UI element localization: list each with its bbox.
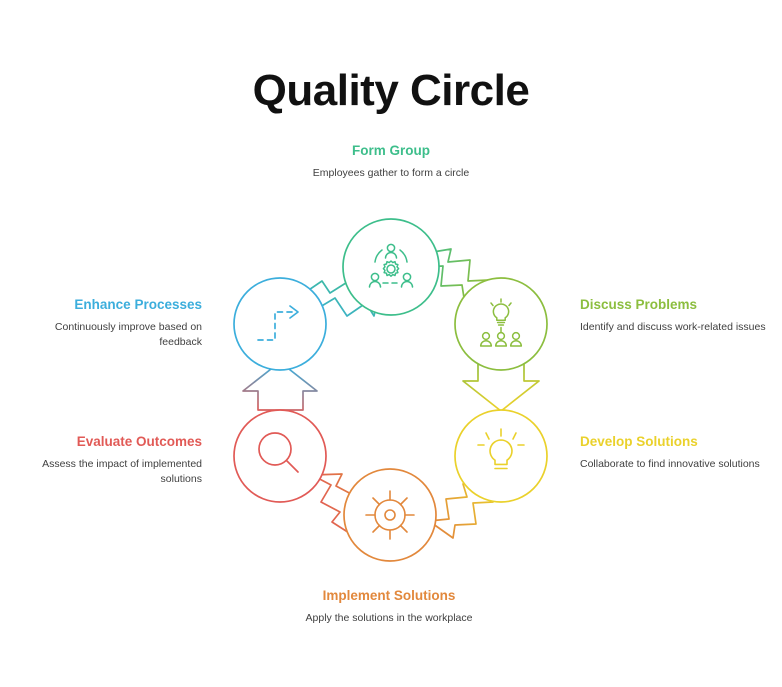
label-desc-evaluate-outcomes: Assess the impact of implemented solutio… (10, 457, 202, 487)
label-desc-discuss-problems: Identify and discuss work-related issues (580, 320, 776, 335)
node-circle-discuss-problems (455, 278, 547, 370)
label-desc-develop-solutions: Collaborate to find innovative solutions (580, 457, 776, 472)
label-develop-solutions: Develop Solutions Collaborate to find in… (580, 433, 776, 472)
infographic-canvas: Quality Circle (0, 0, 782, 687)
label-title-implement-solutions: Implement Solutions (294, 587, 484, 605)
label-title-enhance-processes: Enhance Processes (10, 296, 202, 314)
label-enhance-processes: Enhance Processes Continuously improve b… (10, 296, 202, 350)
label-desc-implement-solutions: Apply the solutions in the workplace (294, 611, 484, 626)
label-discuss-problems: Discuss Problems Identify and discuss wo… (580, 296, 776, 335)
node-circle-enhance-processes (234, 278, 326, 370)
label-title-form-group: Form Group (296, 142, 486, 160)
label-evaluate-outcomes: Evaluate Outcomes Assess the impact of i… (10, 433, 202, 487)
label-title-develop-solutions: Develop Solutions (580, 433, 776, 451)
label-implement-solutions: Implement Solutions Apply the solutions … (294, 587, 484, 625)
node-circle-form-group (343, 219, 439, 315)
label-desc-enhance-processes: Continuously improve based on feedback (10, 320, 202, 350)
label-title-discuss-problems: Discuss Problems (580, 296, 776, 314)
label-title-evaluate-outcomes: Evaluate Outcomes (10, 433, 202, 451)
node-circle-evaluate-outcomes (234, 410, 326, 502)
label-form-group: Form Group Employees gather to form a ci… (296, 142, 486, 181)
node-circle-develop-solutions (455, 410, 547, 502)
label-desc-form-group: Employees gather to form a circle (296, 166, 486, 181)
node-circle-implement-solutions (344, 469, 436, 561)
